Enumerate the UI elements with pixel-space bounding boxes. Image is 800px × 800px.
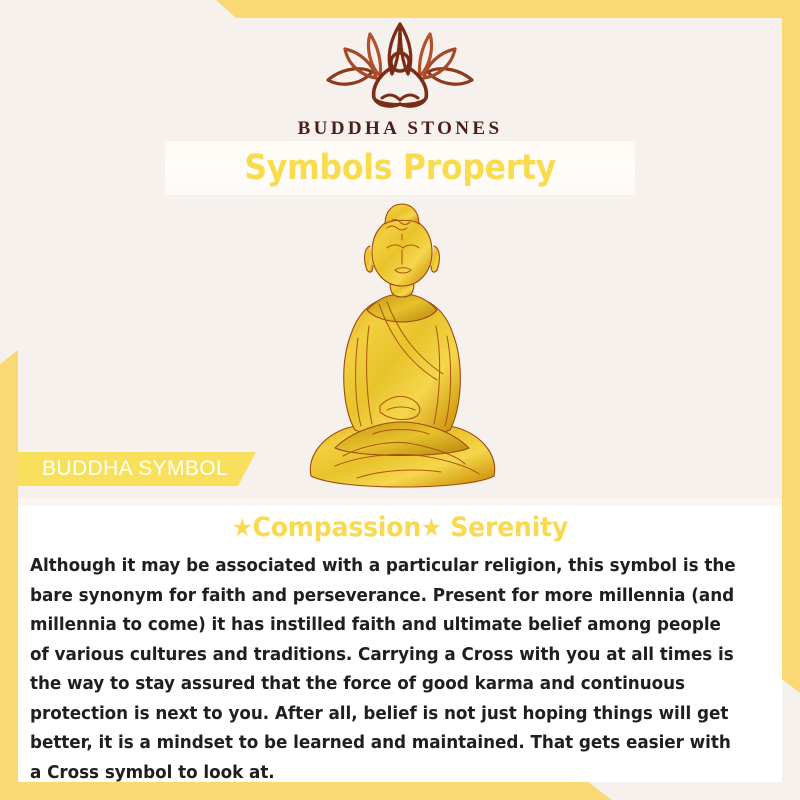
content-paragraph: Although it may be associated with a par…	[30, 552, 737, 788]
brand-block: BUDDHA STONES	[0, 18, 800, 140]
page-title: Symbols Property	[244, 148, 556, 188]
content-panel: ★Compassion★ Serenity Although it may be…	[18, 498, 782, 782]
panel-top-edge	[18, 498, 782, 506]
star-icon-right: ★	[421, 513, 442, 542]
title-band: Symbols Property	[165, 141, 635, 195]
subheading-compassion: Compassion	[252, 512, 421, 543]
frame-accent-left	[0, 350, 18, 800]
golden-buddha-statue-icon	[295, 198, 510, 493]
buddha-statue-illustration	[295, 198, 510, 493]
lotus-meditation-icon	[312, 18, 488, 114]
frame-accent-top	[212, 0, 800, 18]
content-subheading: ★Compassion★ Serenity	[45, 512, 756, 543]
poster-root: BUDDHA STONES Symbols Property	[0, 0, 800, 800]
brand-name: BUDDHA STONES	[0, 118, 800, 140]
buddha-symbol-ribbon-label: BUDDHA SYMBOL	[18, 457, 228, 481]
star-icon-left: ★	[232, 513, 253, 542]
buddha-symbol-ribbon: BUDDHA SYMBOL	[18, 452, 256, 486]
subheading-serenity: Serenity	[450, 512, 568, 543]
